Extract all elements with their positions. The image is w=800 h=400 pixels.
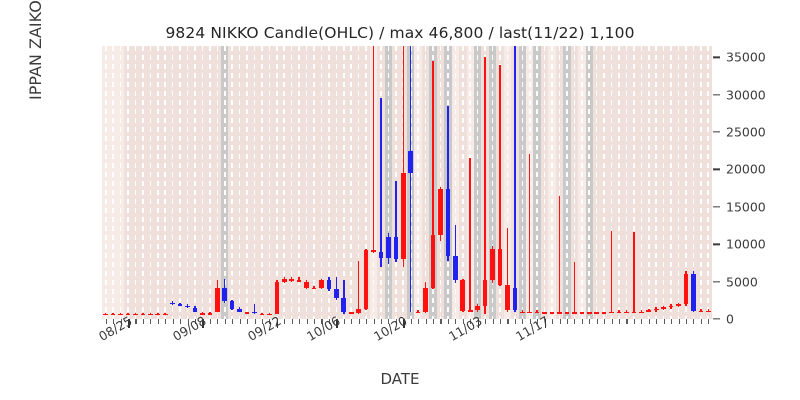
candle-body bbox=[148, 314, 153, 316]
candle-body bbox=[431, 235, 436, 287]
x-tick-minor bbox=[493, 319, 494, 324]
x-tick-minor bbox=[485, 319, 486, 324]
x-tick-minor bbox=[440, 319, 441, 324]
x-tick-minor bbox=[522, 319, 523, 324]
candle-body bbox=[394, 237, 399, 259]
x-tick-minor bbox=[686, 319, 687, 324]
candle-body bbox=[237, 309, 242, 312]
x-tick-minor bbox=[500, 319, 501, 324]
x-tick-minor bbox=[574, 319, 575, 324]
candle-body bbox=[661, 307, 666, 309]
candle-body bbox=[401, 173, 406, 259]
candle-body bbox=[252, 312, 257, 314]
gridline bbox=[581, 46, 583, 319]
gridline bbox=[536, 46, 538, 319]
x-tick-minor bbox=[165, 319, 166, 324]
gridline bbox=[425, 46, 427, 319]
candle-body bbox=[624, 312, 629, 314]
candle-body bbox=[535, 312, 540, 314]
candle-body bbox=[334, 289, 339, 298]
candle-body bbox=[691, 274, 696, 311]
y-tick-label: 20000 bbox=[726, 162, 766, 177]
x-tick-minor bbox=[455, 319, 456, 324]
candle-wick bbox=[373, 46, 375, 253]
y-tick-mark bbox=[713, 169, 720, 170]
candle-body bbox=[453, 256, 458, 280]
x-tick-minor bbox=[106, 319, 107, 324]
candle-body bbox=[587, 312, 592, 314]
x-tick-minor bbox=[552, 319, 553, 324]
gridline bbox=[254, 46, 256, 319]
y-tick-label: 0 bbox=[726, 312, 734, 327]
candle-body bbox=[646, 310, 651, 312]
candle-body bbox=[580, 312, 585, 314]
candle-wick bbox=[358, 261, 360, 314]
gridline bbox=[179, 46, 181, 319]
gridline bbox=[551, 46, 553, 319]
candle-body bbox=[706, 311, 711, 313]
y-tick-label: 35000 bbox=[726, 50, 766, 65]
gridline bbox=[566, 46, 568, 319]
gridline bbox=[261, 46, 263, 319]
gridline bbox=[588, 46, 590, 319]
gridline bbox=[618, 46, 620, 319]
gridline bbox=[217, 46, 219, 319]
gridline bbox=[120, 46, 122, 319]
candle-body bbox=[513, 288, 518, 310]
candle-body bbox=[505, 285, 510, 310]
candle-body bbox=[327, 280, 332, 289]
candle-wick bbox=[574, 262, 576, 313]
gridline bbox=[648, 46, 650, 319]
candle-body bbox=[572, 312, 577, 314]
y-tick-mark bbox=[713, 131, 720, 132]
x-tick-minor bbox=[232, 319, 233, 324]
candle-body bbox=[594, 312, 599, 314]
candle-body bbox=[490, 249, 495, 280]
x-tick-minor bbox=[589, 319, 590, 324]
candle-body bbox=[222, 288, 227, 301]
candle-body bbox=[193, 308, 198, 312]
x-tick-minor bbox=[225, 319, 226, 324]
candle-body bbox=[602, 312, 607, 314]
x-tick-minor bbox=[597, 319, 598, 324]
x-tick-minor bbox=[299, 319, 300, 324]
gridline bbox=[596, 46, 598, 319]
x-tick-minor bbox=[292, 319, 293, 324]
candle-body bbox=[408, 151, 413, 173]
gridline bbox=[477, 46, 479, 319]
gridline bbox=[157, 46, 159, 319]
x-tick-minor bbox=[374, 319, 375, 324]
y-tick-mark bbox=[713, 57, 720, 58]
candle-body bbox=[468, 310, 473, 312]
gridline bbox=[655, 46, 657, 319]
candle-body bbox=[341, 298, 346, 312]
y-tick-label: 30000 bbox=[726, 87, 766, 102]
x-tick-minor bbox=[307, 319, 308, 324]
candle-wick bbox=[410, 46, 412, 312]
x-tick-minor bbox=[701, 319, 702, 324]
candle-body bbox=[155, 314, 160, 316]
candle-body bbox=[304, 282, 309, 288]
x-tick-minor bbox=[679, 319, 680, 324]
candle-body bbox=[669, 306, 674, 308]
candle-body bbox=[275, 282, 280, 314]
x-tick-minor bbox=[240, 319, 241, 324]
gridline bbox=[417, 46, 419, 319]
x-tick-minor bbox=[359, 319, 360, 324]
candle-body bbox=[103, 314, 108, 316]
x-tick-minor bbox=[507, 319, 508, 324]
x-tick-minor bbox=[255, 319, 256, 324]
candle-body bbox=[565, 312, 570, 314]
candle-body bbox=[260, 314, 265, 316]
candle-wick bbox=[611, 231, 613, 313]
candle-body bbox=[632, 312, 637, 314]
x-tick-minor bbox=[619, 319, 620, 324]
candle-wick bbox=[559, 196, 561, 313]
candle-body bbox=[215, 288, 220, 312]
y-tick-label: 10000 bbox=[726, 237, 766, 252]
candle-body bbox=[446, 189, 451, 256]
gridline bbox=[246, 46, 248, 319]
plot-area bbox=[102, 46, 712, 319]
y-axis-title: IPPAN ZAIKO (volume) bbox=[26, 0, 45, 100]
candle-wick bbox=[380, 98, 382, 266]
gridline bbox=[306, 46, 308, 319]
x-tick-minor bbox=[604, 319, 605, 324]
x-tick-minor bbox=[366, 319, 367, 324]
x-tick-minor bbox=[418, 319, 419, 324]
x-tick-minor bbox=[708, 319, 709, 324]
x-tick-minor bbox=[649, 319, 650, 324]
candle-body bbox=[282, 279, 287, 281]
gridline bbox=[343, 46, 345, 319]
candle-body bbox=[699, 311, 704, 313]
gridline bbox=[544, 46, 546, 319]
gridline bbox=[105, 46, 107, 319]
chart-root: 9824 NIKKO Candle(OHLC) / max 46,800 / l… bbox=[0, 0, 800, 400]
candle-body bbox=[364, 250, 369, 308]
x-tick-minor bbox=[641, 319, 642, 324]
gridline bbox=[626, 46, 628, 319]
x-tick-minor bbox=[217, 319, 218, 324]
gridline bbox=[700, 46, 702, 319]
x-tick-minor bbox=[626, 319, 627, 324]
x-tick-minor bbox=[284, 319, 285, 324]
gridline bbox=[112, 46, 114, 319]
gridline bbox=[269, 46, 271, 319]
gridline bbox=[142, 46, 144, 319]
candle-body bbox=[371, 250, 376, 252]
gridline bbox=[313, 46, 315, 319]
candle-body bbox=[185, 306, 190, 308]
candle-wick bbox=[514, 46, 516, 312]
candle-body bbox=[460, 280, 465, 311]
candle-body bbox=[349, 312, 354, 314]
gridline bbox=[150, 46, 152, 319]
candle-body bbox=[684, 274, 689, 304]
candle-body bbox=[356, 309, 361, 313]
gridline bbox=[209, 46, 211, 319]
x-tick-minor bbox=[664, 319, 665, 324]
candle-body bbox=[676, 304, 681, 306]
x-tick-minor bbox=[173, 319, 174, 324]
candle-body bbox=[245, 312, 250, 314]
x-tick-minor bbox=[656, 319, 657, 324]
y-tick-label: 5000 bbox=[726, 274, 758, 289]
gridline bbox=[388, 46, 390, 319]
candle-body bbox=[230, 301, 235, 309]
x-tick-minor bbox=[671, 319, 672, 324]
x-tick-minor bbox=[515, 319, 516, 324]
gridline bbox=[663, 46, 665, 319]
y-tick-mark bbox=[713, 94, 720, 95]
gridline bbox=[276, 46, 278, 319]
x-tick-minor bbox=[612, 319, 613, 324]
candle-body bbox=[379, 252, 384, 258]
gridline bbox=[522, 46, 524, 319]
candle-body bbox=[178, 304, 183, 306]
x-tick-minor bbox=[634, 319, 635, 324]
candle-body bbox=[289, 279, 294, 281]
gridline bbox=[440, 46, 442, 319]
candle-body bbox=[520, 312, 525, 314]
candle-body bbox=[386, 237, 391, 258]
candle-body bbox=[416, 312, 421, 314]
x-tick-minor bbox=[210, 319, 211, 324]
gridline bbox=[707, 46, 709, 319]
y-tick-mark bbox=[713, 206, 720, 207]
candle-body bbox=[319, 280, 324, 287]
candle-body bbox=[557, 312, 562, 314]
candle-body bbox=[208, 313, 213, 315]
candle-body bbox=[312, 288, 317, 290]
gridline bbox=[239, 46, 241, 319]
candle-body bbox=[475, 306, 480, 310]
candle-body bbox=[133, 314, 138, 316]
x-tick-minor bbox=[143, 319, 144, 324]
gridline bbox=[670, 46, 672, 319]
y-tick-label: 15000 bbox=[726, 199, 766, 214]
candle-body bbox=[498, 249, 503, 285]
y-tick-mark bbox=[713, 318, 720, 319]
gridline bbox=[187, 46, 189, 319]
gridline bbox=[127, 46, 129, 319]
gridline bbox=[678, 46, 680, 319]
gridline bbox=[603, 46, 605, 319]
candle-body bbox=[438, 189, 443, 235]
x-tick-minor bbox=[560, 319, 561, 324]
candle-wick bbox=[529, 154, 531, 313]
x-tick-minor bbox=[567, 319, 568, 324]
x-tick-minor bbox=[158, 319, 159, 324]
x-tick-minor bbox=[582, 319, 583, 324]
gridline bbox=[135, 46, 137, 319]
candle-body bbox=[141, 314, 146, 316]
y-tick-mark bbox=[713, 281, 720, 282]
candle-body bbox=[297, 280, 302, 282]
x-tick-minor bbox=[433, 319, 434, 324]
x-axis-title: DATE bbox=[0, 370, 800, 388]
x-tick-minor bbox=[426, 319, 427, 324]
candle-wick bbox=[633, 232, 635, 312]
gridline bbox=[194, 46, 196, 319]
x-tick-minor bbox=[247, 319, 248, 324]
candle-body bbox=[527, 312, 532, 314]
gridline bbox=[164, 46, 166, 319]
gridline bbox=[231, 46, 233, 319]
candle-wick bbox=[469, 158, 471, 311]
candle-body bbox=[550, 312, 555, 314]
x-tick-minor bbox=[344, 319, 345, 324]
x-tick-minor bbox=[448, 319, 449, 324]
page-title: 9824 NIKKO Candle(OHLC) / max 46,800 / l… bbox=[0, 24, 800, 42]
candle-body bbox=[111, 314, 116, 316]
gridline bbox=[202, 46, 204, 319]
y-axis-title-host: IPPAN ZAIKO (volume) bbox=[78, 60, 98, 320]
y-tick-mark bbox=[713, 244, 720, 245]
candle-body bbox=[617, 312, 622, 314]
candle-body bbox=[609, 312, 614, 314]
candle-wick bbox=[484, 57, 486, 314]
gridline bbox=[641, 46, 643, 319]
candle-body bbox=[423, 288, 428, 313]
x-tick-minor bbox=[351, 319, 352, 324]
y-tick-label: 25000 bbox=[726, 125, 766, 140]
candle-body bbox=[170, 303, 175, 305]
candle-body bbox=[639, 312, 644, 314]
gridline bbox=[350, 46, 352, 319]
x-tick-minor bbox=[135, 319, 136, 324]
x-tick-minor bbox=[693, 319, 694, 324]
gridline bbox=[172, 46, 174, 319]
candle-body bbox=[483, 280, 488, 305]
candle-body bbox=[163, 314, 168, 316]
candle-body bbox=[654, 309, 659, 311]
x-tick-minor bbox=[411, 319, 412, 324]
x-tick-minor bbox=[150, 319, 151, 324]
